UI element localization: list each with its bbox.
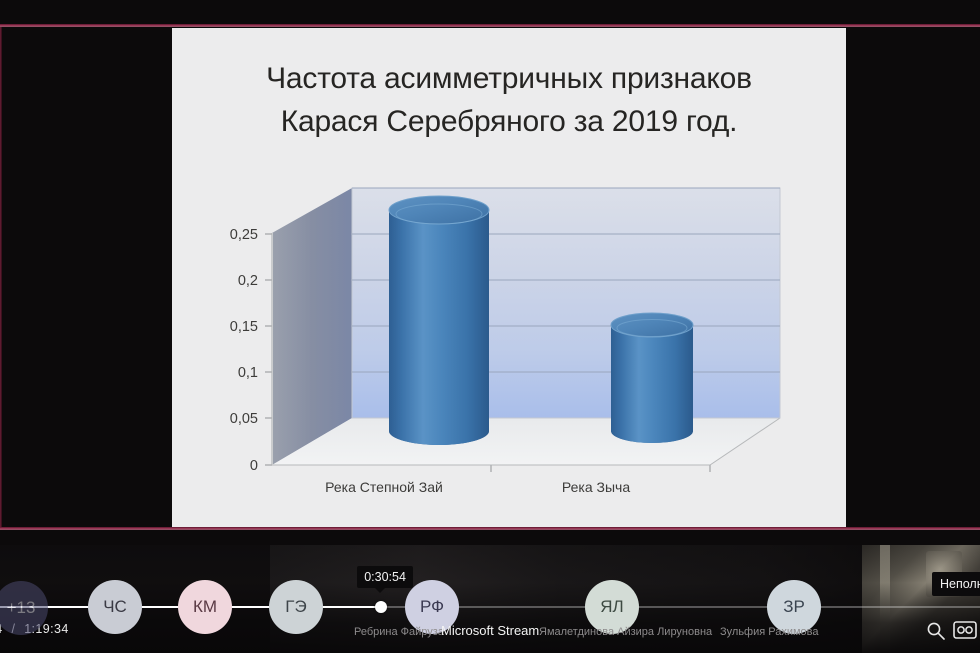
chart-svg: 0 0,05 0,1 0,15 0,2 0,25 xyxy=(172,28,846,527)
y-tick-label: 0,05 xyxy=(230,411,258,427)
avatar-initials: ЯЛ xyxy=(600,597,623,617)
y-tick-label: 0,2 xyxy=(238,273,258,289)
avatar-initials: ГЭ xyxy=(285,597,306,617)
avatar[interactable]: ГЭ xyxy=(269,580,323,634)
screen-root: Частота асимметричных признаков Карася С… xyxy=(0,0,980,653)
x-axis-category-labels: Река Степной Зай Река Зыча xyxy=(325,479,630,495)
avatar-initials: РФ xyxy=(420,597,444,617)
control-tooltip: Неполн xyxy=(932,572,980,596)
slide-frame-left-edge xyxy=(0,27,2,528)
search-icon[interactable] xyxy=(925,620,947,642)
speaker-name: Ямалетдинова Айзира Лируновна xyxy=(539,626,712,638)
speaker-name: Ребрина Файруза xyxy=(354,626,444,638)
y-tick-label: 0,15 xyxy=(230,319,258,335)
video-stage[interactable]: Частота асимметричных признаков Карася С… xyxy=(0,0,980,545)
y-axis-ticks xyxy=(265,234,272,465)
avatar[interactable]: КМ xyxy=(178,580,232,634)
x-category-label: Река Степной Зай xyxy=(325,479,443,495)
hover-time-value: 0:30:54 xyxy=(364,570,406,584)
chart-side-wall xyxy=(272,188,352,465)
closed-captions-icon[interactable] xyxy=(953,621,975,643)
avatar-initials: +13 xyxy=(7,598,36,618)
brand-label: Microsoft Stream xyxy=(441,623,539,638)
bar-cylinder-2[interactable] xyxy=(611,313,693,443)
y-tick-label: 0,1 xyxy=(238,365,258,381)
slide-frame-top-rule xyxy=(0,24,980,27)
avatar-initials: ЧС xyxy=(103,597,127,617)
x-category-label: Река Зыча xyxy=(562,479,630,495)
bar-cylinder-1[interactable] xyxy=(389,196,489,445)
y-axis-tick-labels: 0 0,05 0,1 0,15 0,2 0,25 xyxy=(230,227,258,474)
x-axis-ticks xyxy=(491,465,710,472)
slide-frame-bottom-rule xyxy=(0,527,980,530)
chart-floor xyxy=(272,418,780,465)
avatar-initials: ЗР xyxy=(783,597,805,617)
avatar-initials: КМ xyxy=(193,597,217,617)
avatar[interactable]: ЧС xyxy=(88,580,142,634)
bar-chart: 0 0,05 0,1 0,15 0,2 0,25 xyxy=(172,28,846,527)
speaker-name: Зульфия Рахимова xyxy=(720,626,819,638)
presentation-slide: Частота асимметричных признаков Карася С… xyxy=(172,28,846,527)
y-tick-label: 0 xyxy=(250,458,258,474)
y-tick-label: 0,25 xyxy=(230,227,258,243)
hover-time-tooltip: 0:30:54 xyxy=(357,566,413,588)
control-tooltip-text: Неполн xyxy=(940,577,980,591)
